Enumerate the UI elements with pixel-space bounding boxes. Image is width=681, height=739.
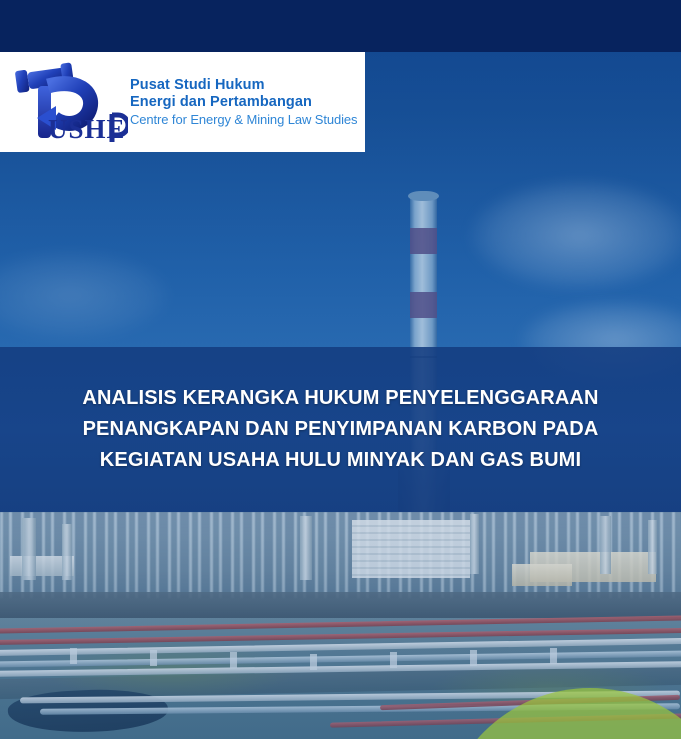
gavel-p-monogram-icon: USHE xyxy=(0,56,128,148)
logo-card: USHE Pusat Studi Hukum Energi dan Pertam… xyxy=(0,52,365,152)
logo-line-1: Pusat Studi Hukum xyxy=(130,77,357,94)
title-line-2: PENANGKAPAN DAN PENYIMPANAN KARBON PADA xyxy=(83,417,599,442)
logo-line-3: Centre for Energy & Mining Law Studies xyxy=(130,112,357,128)
title-line-1: ANALISIS KERANGKA HUKUM PENYELENGGARAAN xyxy=(82,386,598,411)
distillation-tower xyxy=(62,524,72,580)
page-title: ANALISIS KERANGKA HUKUM PENYELENGGARAAN … xyxy=(0,347,681,512)
top-navy-band xyxy=(0,0,681,52)
poster-root: USHE Pusat Studi Hukum Energi dan Pertam… xyxy=(0,0,681,739)
pipe-support xyxy=(550,648,557,664)
plant-road xyxy=(0,592,681,618)
smokestack-band xyxy=(410,228,437,254)
distillation-tower xyxy=(22,518,36,580)
plant-building xyxy=(352,520,470,578)
pipe-support xyxy=(70,648,77,664)
title-line-3: KEGIATAN USAHA HULU MINYAK DAN GAS BUMI xyxy=(100,448,581,473)
logo-line-2: Energi dan Pertambangan xyxy=(130,94,357,111)
pipe-support xyxy=(150,650,157,666)
pipe-support xyxy=(390,652,397,668)
distillation-tower xyxy=(470,514,479,574)
smokestack-cap xyxy=(408,191,439,201)
pipe-support xyxy=(470,650,477,666)
pipe-support xyxy=(230,652,237,668)
distillation-tower xyxy=(600,516,611,574)
plant-building xyxy=(512,564,572,586)
distillation-tower xyxy=(648,520,657,574)
smokestack-band xyxy=(410,292,437,318)
logo-wordmark-text: Pusat Studi Hukum Energi dan Pertambanga… xyxy=(130,77,357,128)
pipe-support xyxy=(310,654,317,670)
distillation-tower xyxy=(300,516,312,580)
cloud xyxy=(470,180,681,290)
